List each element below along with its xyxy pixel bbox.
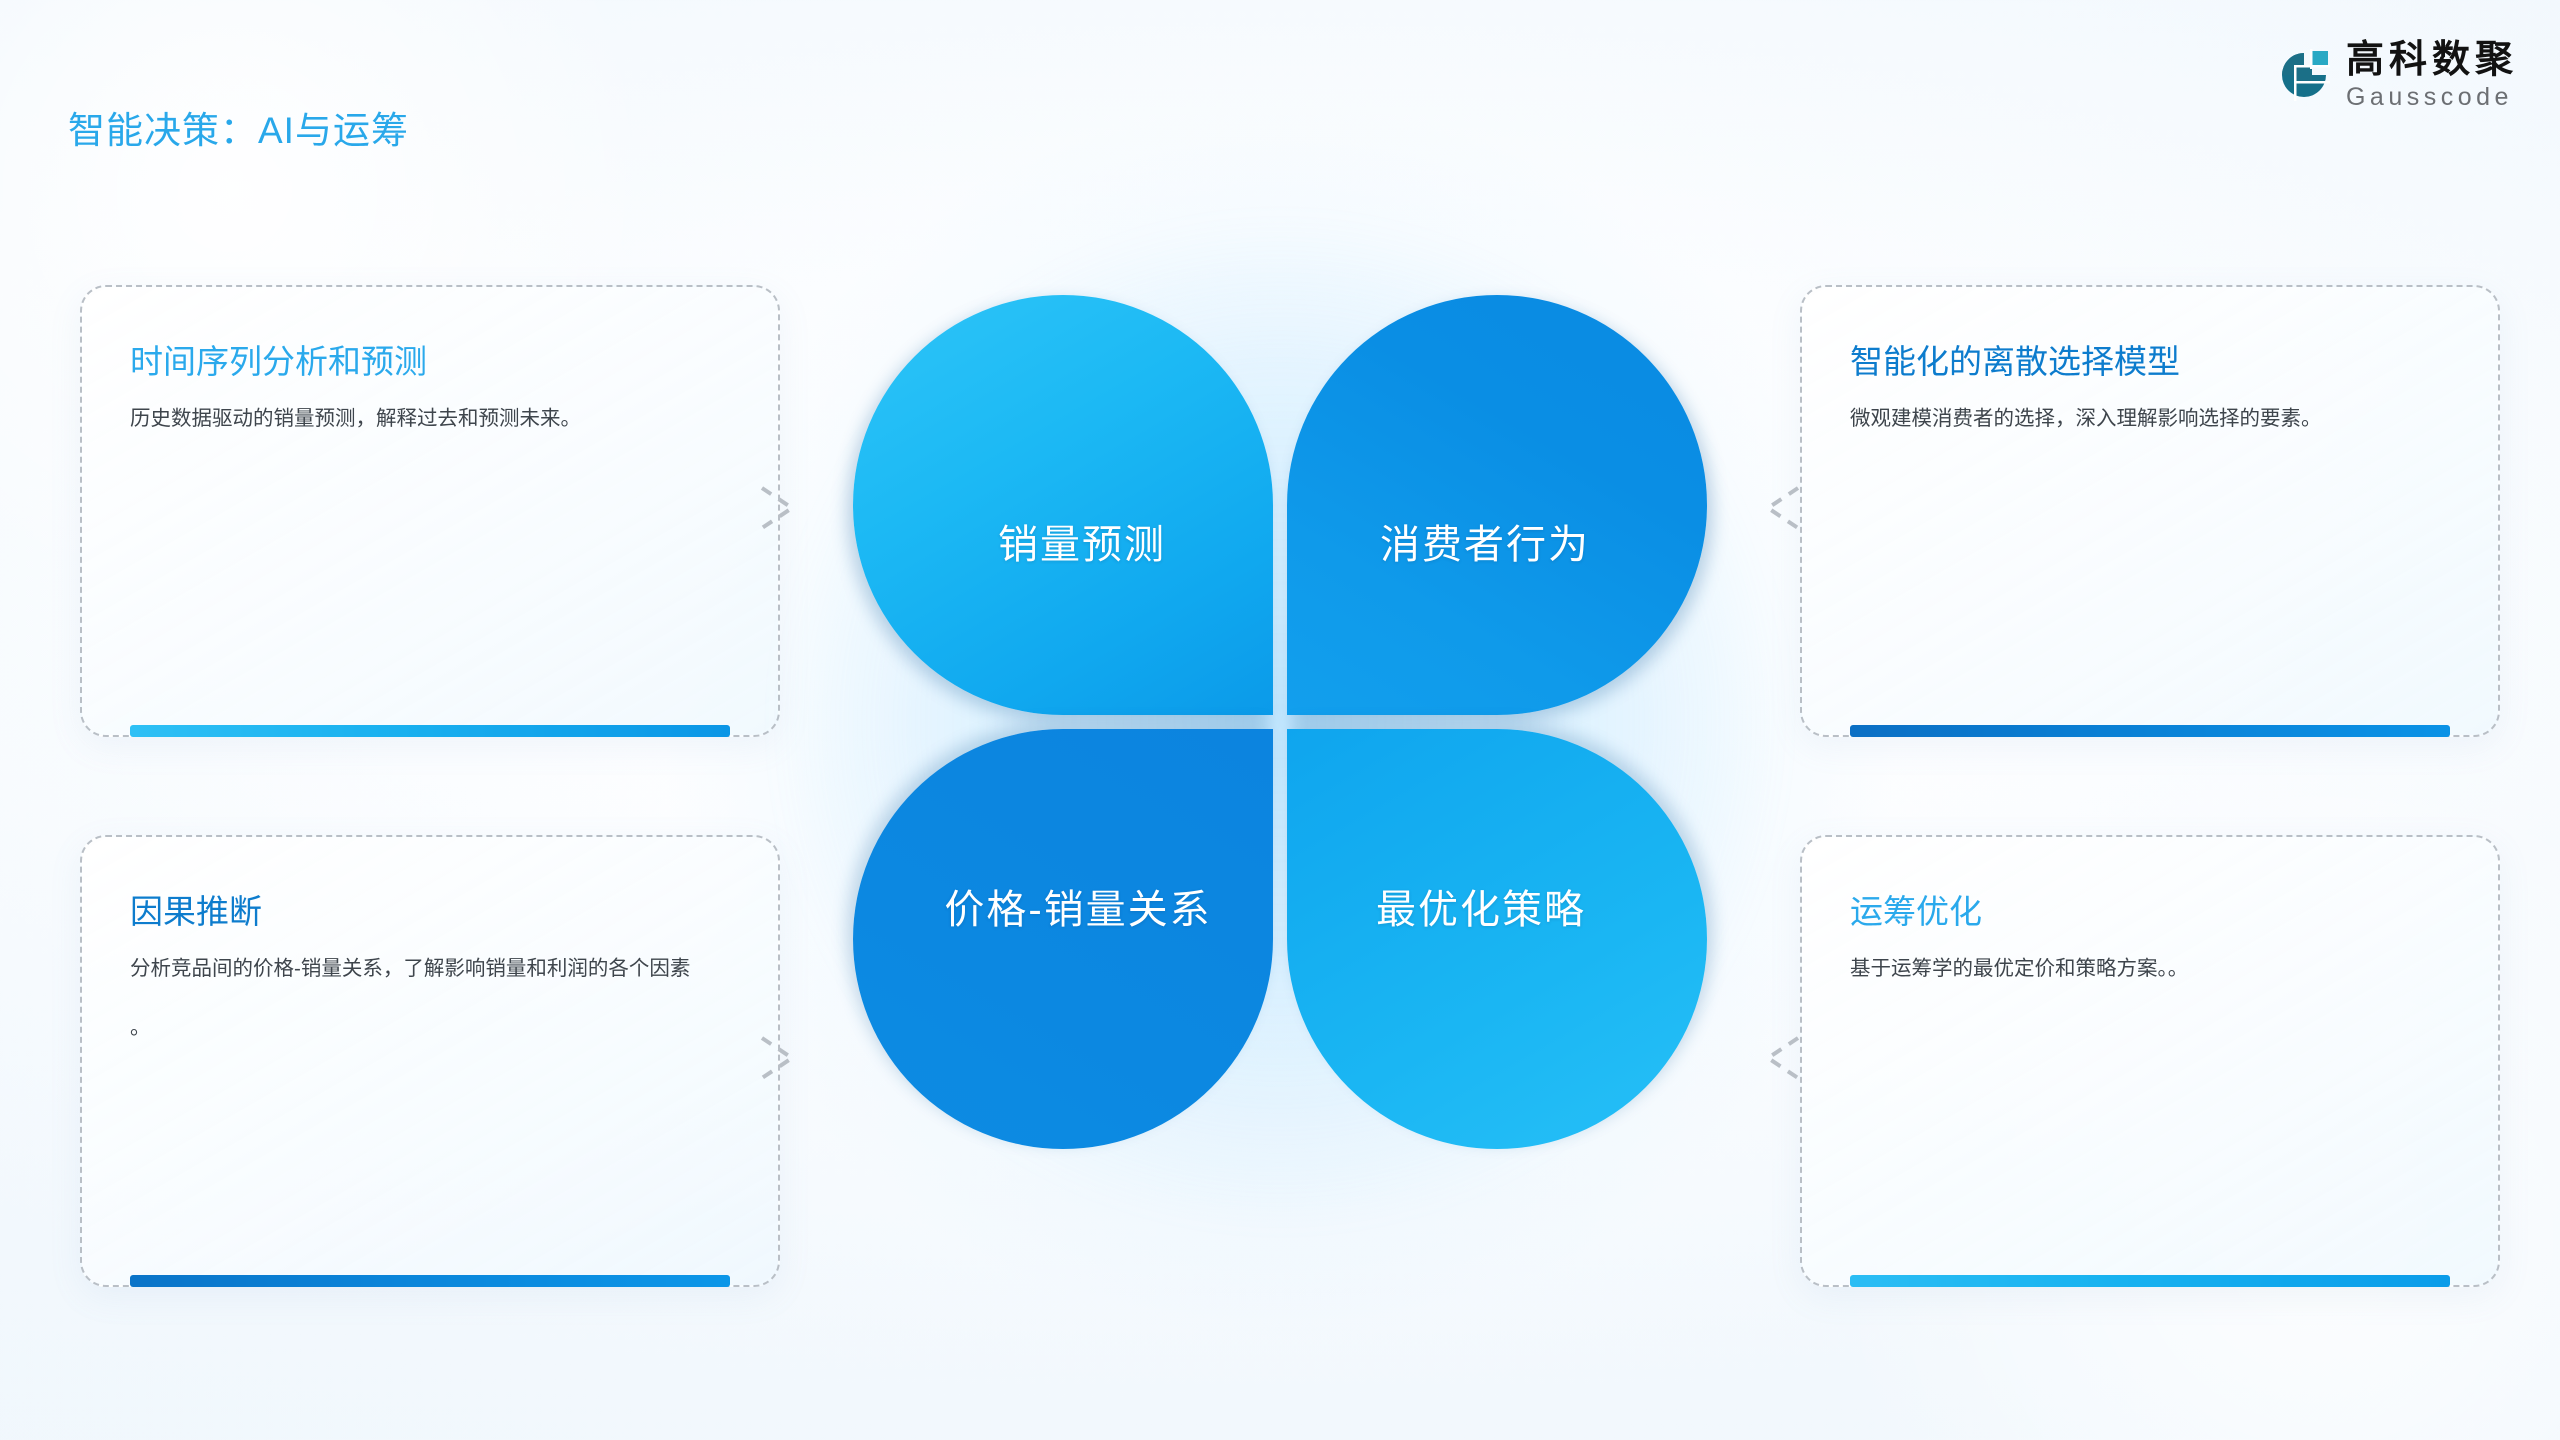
card-accent-bar — [130, 725, 730, 737]
connector-chevron-left-icon — [1758, 1030, 1804, 1086]
brand-name-en: Gausscode — [2346, 85, 2518, 110]
card-title: 时间序列分析和预测 — [130, 341, 730, 382]
card-body: 历史数据驱动的销量预测，解释过去和预测未来。 — [130, 402, 730, 435]
card-accent-bar — [130, 1275, 730, 1287]
petal-sales-forecast[interactable]: 销量预测 — [853, 295, 1273, 715]
card-body: 分析竞品间的价格-销量关系，了解影响销量和利润的各个因素 — [130, 952, 730, 985]
petal-label: 销量预测 — [998, 512, 1166, 570]
brand-text: 高科数聚 Gausscode — [2346, 40, 2518, 110]
card-title: 智能化的离散选择模型 — [1850, 341, 2450, 382]
card-title: 因果推断 — [130, 891, 730, 932]
flower-diagram: 销量预测 消费者行为 价格-销量关系 最优化策略 — [845, 287, 1715, 1157]
card-causal-inference[interactable]: 因果推断 分析竞品间的价格-销量关系，了解影响销量和利润的各个因素 。 — [80, 835, 780, 1287]
card-time-series[interactable]: 时间序列分析和预测 历史数据驱动的销量预测，解释过去和预测未来。 — [80, 285, 780, 737]
connector-chevron-left-icon — [1758, 480, 1804, 536]
petal-label: 价格-销量关系 — [944, 877, 1211, 935]
card-title: 运筹优化 — [1850, 891, 2450, 932]
petal-label: 消费者行为 — [1380, 512, 1590, 570]
brand-name-cn: 高科数聚 — [2346, 40, 2518, 78]
gausscode-logo-icon — [2278, 49, 2330, 101]
petal-price-volume-relation[interactable]: 价格-销量关系 — [853, 729, 1273, 1149]
card-discrete-choice[interactable]: 智能化的离散选择模型 微观建模消费者的选择，深入理解影响选择的要素。 — [1800, 285, 2500, 737]
card-accent-bar — [1850, 1275, 2450, 1287]
card-accent-bar — [1850, 725, 2450, 737]
card-operations-research[interactable]: 运筹优化 基于运筹学的最优定价和策略方案。。 — [1800, 835, 2500, 1287]
page-title: 智能决策：AI与运筹 — [68, 100, 409, 154]
card-body: 微观建模消费者的选择，深入理解影响选择的要素。 — [1850, 402, 2450, 435]
petal-optimization-strategy[interactable]: 最优化策略 — [1287, 729, 1707, 1149]
card-body-extra: 。 — [130, 1011, 730, 1044]
petal-consumer-behavior[interactable]: 消费者行为 — [1287, 295, 1707, 715]
brand-logo: 高科数聚 Gausscode — [2278, 40, 2518, 110]
card-body: 基于运筹学的最优定价和策略方案。。 — [1850, 952, 2450, 985]
petal-label: 最优化策略 — [1376, 877, 1586, 935]
